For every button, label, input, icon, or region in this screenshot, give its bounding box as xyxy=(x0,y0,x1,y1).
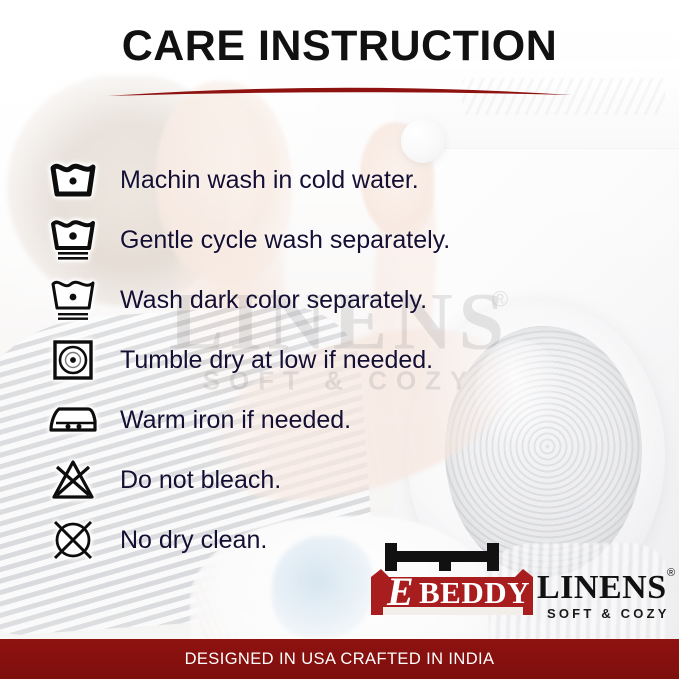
machine-wash-cold-icon xyxy=(44,161,102,199)
page-title: CARE INSTRUCTION xyxy=(0,22,679,71)
list-item-label: Gentle cycle wash separately. xyxy=(120,226,450,255)
footer-text: DESIGNED IN USA CRAFTED IN INDIA xyxy=(185,650,495,669)
beddy-wordmark: BEDDY xyxy=(419,577,530,608)
do-not-bleach-icon xyxy=(44,458,102,502)
list-item: Tumble dry at low if needed. xyxy=(44,330,644,390)
footer-banner: DESIGNED IN USA CRAFTED IN INDIA xyxy=(0,639,679,679)
registered-trademark-icon: ® xyxy=(667,567,675,579)
linens-wordmark: LINENS xyxy=(537,571,667,605)
gentle-cycle-wash-icon xyxy=(44,217,102,263)
list-item: Gentle cycle wash separately. xyxy=(44,210,644,270)
list-item: Machin wash in cold water. xyxy=(44,150,644,210)
list-item-label: Do not bleach. xyxy=(120,466,281,495)
wash-separately-icon xyxy=(44,277,102,323)
brand-tagline: SOFT & COZY xyxy=(547,607,670,620)
title-underline-accent xyxy=(100,82,580,98)
list-item-label: Warm iron if needed. xyxy=(120,406,351,435)
tumble-dry-low-icon xyxy=(44,339,102,381)
list-item-label: Machin wash in cold water. xyxy=(120,166,419,195)
care-instruction-label: LINENS SOFT & COZY ® CARE INSTRUCTION Ma… xyxy=(0,0,679,679)
list-item: Wash dark color separately. xyxy=(44,270,644,330)
list-item-label: No dry clean. xyxy=(120,526,267,555)
beddy-script-letter: E xyxy=(387,572,414,612)
page-title-container: CARE INSTRUCTION xyxy=(0,22,679,71)
list-item: Warm iron if needed. xyxy=(44,390,644,450)
list-item-label: Wash dark color separately. xyxy=(120,286,427,315)
care-instruction-list: Machin wash in cold water. Gentle cycle … xyxy=(44,150,644,570)
list-item-label: Tumble dry at low if needed. xyxy=(120,346,433,375)
no-dry-clean-icon xyxy=(44,517,102,563)
list-item: Do not bleach. xyxy=(44,450,644,510)
brand-logo: E BEDDY LINENS ® SOFT & COZY xyxy=(371,541,671,633)
warm-iron-icon xyxy=(44,401,102,439)
